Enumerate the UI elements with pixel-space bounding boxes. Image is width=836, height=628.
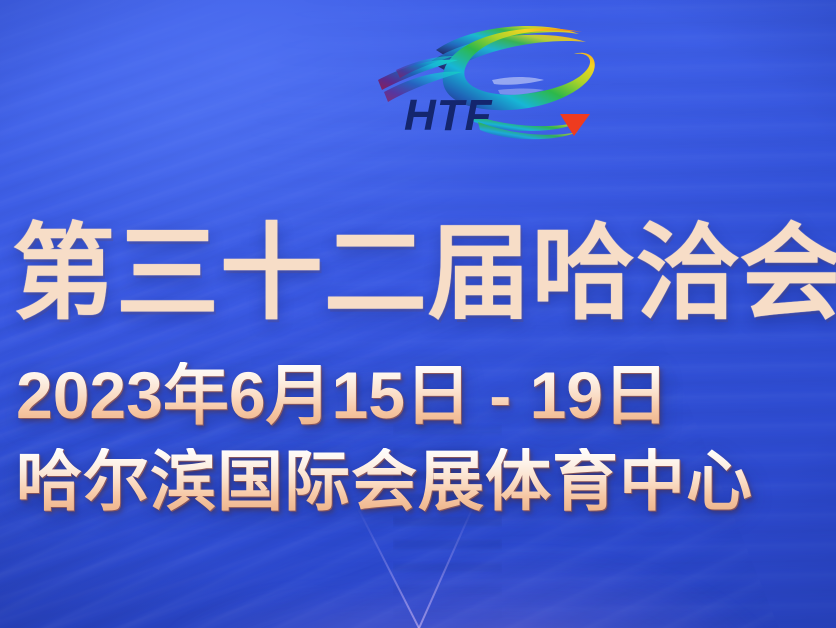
event-poster: HTF 第三十二届哈洽会 2023年6月15日 - 19日 哈尔滨国际会展体育中…	[0, 0, 836, 628]
headline-title: 第三十二届哈洽会	[12, 222, 836, 326]
event-date: 2023年6月15日 - 19日	[16, 362, 669, 428]
event-venue: 哈尔滨国际会展体育中心	[16, 448, 753, 514]
poster-text-block: 第三十二届哈洽会 2023年6月15日 - 19日 哈尔滨国际会展体育中心	[0, 0, 836, 628]
